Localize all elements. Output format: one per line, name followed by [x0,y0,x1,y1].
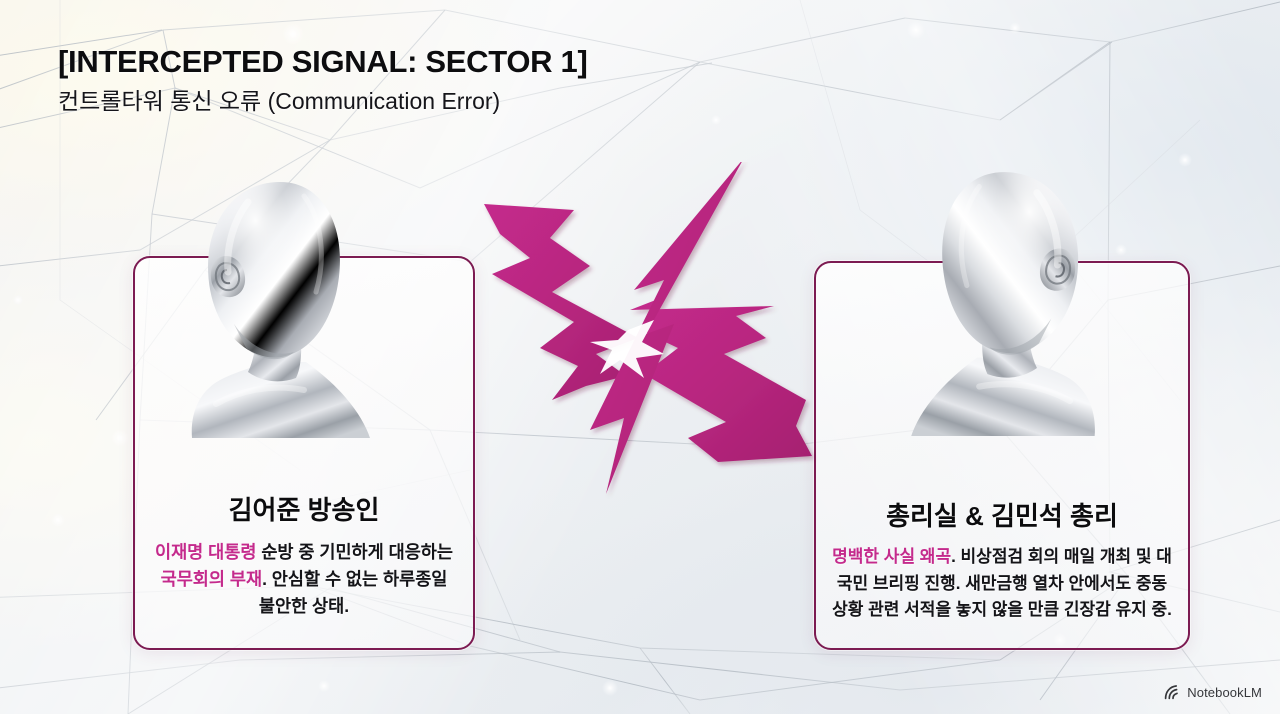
card-left-heading-role: 방송인 [308,495,380,525]
card-right-body: 총리실 & 김민석 총리 명백한 사실 왜곡. 비상점검 회의 매일 개최 및 … [816,501,1188,624]
header: [INTERCEPTED SIGNAL: SECTOR 1] 컨트롤타워 통신 … [58,44,588,115]
info-card-left: 김어준 방송인 이재명 대통령 순방 중 기민하게 대응하는 국무회의 부재. … [133,256,475,650]
card-right-description: 명백한 사실 왜곡. 비상점검 회의 매일 개최 및 대국민 브리핑 진행. 새… [832,544,1172,624]
notebooklm-watermark: NotebookLM [1164,685,1262,700]
notebooklm-logo-icon [1164,685,1181,700]
highlighted-phrase: 명백한 사실 왜곡 [832,547,951,566]
card-left-heading: 김어준 방송인 [151,495,457,526]
card-left-heading-name: 김어준 [229,495,301,525]
highlighted-phrase: 이재명 대통령 [155,542,256,562]
card-left-description: 이재명 대통령 순방 중 기민하게 대응하는 국무회의 부재. 안심할 수 없는… [151,539,457,620]
card-left-body: 김어준 방송인 이재명 대통령 순방 중 기민하게 대응하는 국무회의 부재. … [135,495,473,620]
highlighted-phrase: 국무회의 부재 [161,569,262,589]
slide-canvas: [INTERCEPTED SIGNAL: SECTOR 1] 컨트롤타워 통신 … [0,0,1280,714]
body-phrase: . 안심할 수 없는 하루종일 불안한 상태. [259,569,448,616]
info-card-right: 총리실 & 김민석 총리 명백한 사실 왜곡. 비상점검 회의 매일 개최 및 … [814,261,1190,650]
crossed-arrows-lightning-icon [478,162,818,522]
page-subtitle: 컨트롤타워 통신 오류 (Communication Error) [58,88,588,116]
page-title: [INTERCEPTED SIGNAL: SECTOR 1] [58,44,588,81]
notebooklm-label: NotebookLM [1187,685,1262,700]
card-right-heading-name: 총리실 & 김민석 총리 [886,501,1118,531]
card-right-heading: 총리실 & 김민석 총리 [832,501,1172,532]
body-phrase: 순방 중 기민하게 대응하는 [256,542,453,562]
